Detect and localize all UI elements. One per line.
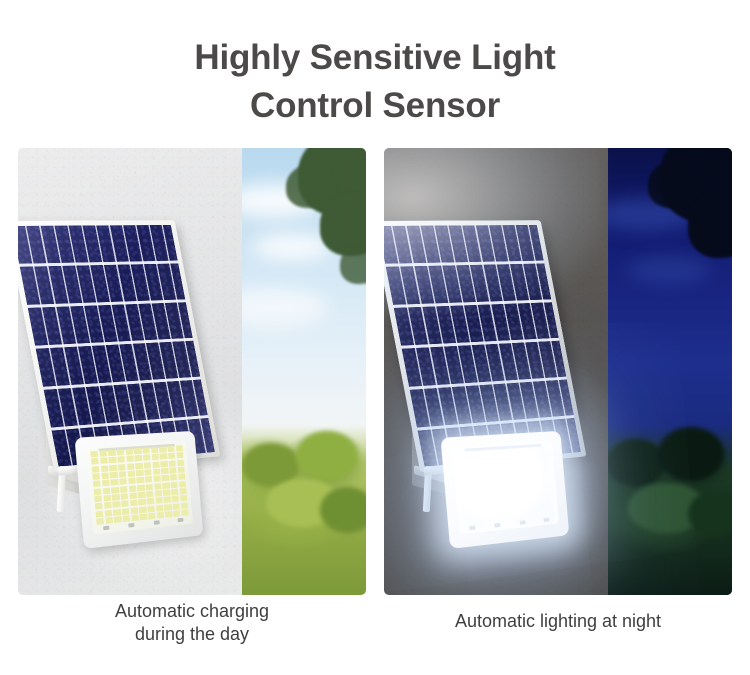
led-chip (112, 494, 120, 501)
led-chip (477, 479, 485, 486)
foliage-blob (320, 487, 366, 533)
led-chip (148, 505, 156, 512)
title-line-1: Highly Sensitive Light (0, 34, 750, 82)
led-chip-array (456, 445, 554, 525)
led-chip (488, 508, 496, 515)
led-chip (500, 448, 508, 454)
led-chip (170, 474, 177, 480)
led-chip (462, 511, 470, 518)
led-chip (160, 461, 167, 467)
led-chip (151, 447, 159, 453)
led-chip (506, 514, 514, 521)
led-chip (159, 446, 166, 452)
led-chip (180, 495, 187, 501)
led-chip (146, 491, 154, 498)
led-chip (521, 490, 529, 496)
led-chip (487, 493, 495, 500)
led-chip (512, 484, 520, 491)
led-chip (467, 472, 475, 479)
led-chip (489, 515, 497, 522)
led-chip (487, 501, 495, 508)
led-chip (108, 450, 116, 456)
led-chip (480, 516, 488, 523)
led-chip (526, 461, 533, 467)
title-line-2: Control Sensor (0, 82, 750, 130)
led-chip (518, 461, 526, 467)
led-chip (466, 458, 474, 465)
led-chip (123, 515, 131, 522)
led-chip (145, 476, 153, 482)
led-chip (130, 500, 138, 507)
led-floodlight (74, 431, 203, 549)
led-chip (131, 507, 139, 514)
led-chip (528, 482, 535, 488)
day-caption-line-1: Automatic charging (18, 600, 366, 623)
led-chip (497, 514, 505, 521)
led-chip (99, 450, 107, 457)
led-chip (546, 495, 553, 501)
led-chip (547, 502, 554, 508)
led-chip (497, 507, 505, 514)
led-chip (160, 453, 167, 459)
led-chip (162, 482, 169, 488)
led-chip (504, 492, 512, 499)
led-chip (120, 486, 128, 493)
led-chip (468, 480, 476, 487)
led-chip (171, 489, 178, 495)
led-chip (137, 477, 145, 484)
led-chip (525, 446, 532, 452)
led-chip (164, 504, 171, 511)
led-chip (119, 478, 127, 485)
led-chip (510, 462, 518, 468)
led-chip (537, 482, 544, 488)
led-chip (494, 478, 502, 485)
led-chip (102, 480, 110, 487)
led-chip (173, 510, 180, 517)
led-chip (514, 505, 522, 512)
led-chip (531, 511, 538, 518)
day-light-fixture (18, 148, 242, 595)
led-chip (113, 509, 121, 516)
led-chip (519, 469, 527, 475)
floodlight-lens (452, 440, 559, 534)
led-chip (545, 488, 552, 494)
led-chip (139, 506, 147, 513)
led-chip (155, 490, 163, 496)
led-chip (530, 497, 537, 504)
led-chip (504, 499, 512, 506)
led-chip (493, 463, 501, 469)
led-chip (491, 448, 499, 454)
led-chip (129, 492, 137, 499)
cloud (626, 256, 712, 284)
led-chip (111, 479, 119, 486)
led-chip (483, 449, 491, 455)
led-chip (138, 499, 146, 506)
led-chip (485, 471, 493, 478)
led-chip-array (90, 445, 188, 525)
led-chip (544, 474, 551, 480)
screw (469, 526, 475, 531)
led-chip (545, 481, 552, 487)
led-chip (134, 448, 142, 454)
led-chip (514, 513, 522, 520)
led-chip (495, 492, 503, 499)
led-chip (519, 476, 527, 482)
led-chip (152, 461, 160, 467)
led-chip (176, 452, 183, 458)
led-chip (113, 501, 121, 508)
led-chip (121, 501, 129, 508)
led-chip (476, 472, 484, 479)
comparison-photos (0, 148, 750, 595)
led-chip (542, 452, 549, 458)
led-chip (179, 481, 186, 487)
led-chip (144, 469, 152, 475)
led-chip (496, 500, 504, 507)
led-chip (461, 503, 469, 510)
day-photo (18, 148, 366, 595)
led-chip (143, 455, 151, 461)
floodlight-lens (86, 440, 193, 534)
led-chip (121, 493, 129, 500)
led-chip (138, 492, 146, 499)
led-chip (512, 491, 520, 498)
led-chip (477, 487, 485, 494)
screw (103, 526, 109, 531)
day-caption-line-2: during the day (18, 623, 366, 646)
night-vegetation (608, 425, 732, 595)
led-chip (127, 470, 135, 477)
page-title: Highly Sensitive Light Control Sensor (0, 34, 750, 130)
led-chip (475, 457, 483, 464)
led-chip (457, 458, 465, 465)
led-floodlight (440, 431, 569, 549)
screw (519, 520, 525, 525)
led-chip (148, 513, 156, 520)
led-chip (474, 450, 482, 456)
led-chip (523, 512, 530, 519)
led-chip (479, 501, 487, 508)
led-chip (181, 509, 188, 515)
led-chip (544, 467, 551, 473)
led-chip (131, 514, 139, 521)
led-chip (129, 485, 137, 492)
led-chip (469, 495, 477, 502)
led-chip (156, 505, 163, 512)
led-chip (125, 448, 133, 454)
led-chip (543, 459, 550, 465)
day-outdoor-scene (242, 148, 366, 595)
led-chip (517, 447, 525, 453)
led-chip (533, 446, 540, 452)
led-chip (90, 451, 98, 458)
led-chip (535, 460, 542, 466)
led-chip (521, 497, 529, 504)
led-chip (502, 470, 510, 476)
cloud (252, 234, 332, 260)
led-chip (128, 478, 136, 485)
led-chip (542, 445, 549, 451)
led-chip (101, 472, 109, 479)
led-chip (135, 463, 143, 469)
led-chip (155, 497, 163, 504)
led-chip (111, 487, 119, 494)
screw (153, 520, 159, 525)
screw (177, 518, 183, 523)
led-chip (127, 463, 135, 469)
led-chip (538, 503, 545, 510)
led-chip (135, 455, 143, 461)
led-chip (179, 488, 186, 494)
led-chip (109, 457, 117, 464)
led-chip (142, 447, 150, 453)
led-chip (104, 502, 112, 509)
led-chip (475, 464, 483, 471)
night-caption: Automatic lighting at night (384, 610, 732, 633)
led-chip (513, 498, 521, 505)
led-chip (153, 476, 161, 482)
led-chip (458, 473, 466, 480)
led-chip (102, 487, 110, 494)
led-chip (164, 497, 171, 504)
led-chip (536, 474, 543, 480)
night-caption-line-1: Automatic lighting at night (384, 610, 732, 633)
led-chip (100, 465, 108, 472)
led-chip (165, 511, 172, 518)
led-chip (96, 511, 104, 518)
led-chip (122, 508, 130, 515)
led-chip (466, 465, 474, 472)
led-chip (465, 450, 473, 457)
led-chip (95, 503, 103, 510)
led-chip (161, 468, 168, 474)
led-chip (140, 514, 148, 521)
led-chip (169, 460, 176, 466)
led-chip (492, 456, 500, 462)
led-chip (530, 504, 537, 511)
led-chip (509, 455, 517, 461)
led-chip (508, 447, 516, 453)
led-chip (100, 458, 108, 465)
led-chip (458, 466, 466, 473)
led-chip (485, 478, 493, 485)
led-chip (177, 459, 184, 465)
led-chip (460, 496, 468, 503)
day-caption: Automatic charging during the day (18, 600, 366, 646)
led-chip (92, 473, 100, 480)
led-chip (178, 474, 185, 480)
led-chip (510, 469, 518, 475)
led-chip (172, 503, 179, 510)
led-chip (104, 510, 112, 517)
led-chip (91, 458, 99, 465)
led-chip (94, 488, 102, 495)
foliage-blob (688, 491, 732, 537)
led-chip (501, 463, 509, 469)
led-chip (147, 498, 155, 505)
led-chip (459, 481, 467, 488)
screw (129, 523, 135, 528)
led-chip (162, 475, 169, 481)
led-chip (493, 470, 501, 477)
led-chip (484, 464, 492, 471)
led-chip (483, 456, 491, 463)
led-chip (486, 486, 494, 493)
foliage-blob (296, 431, 358, 481)
led-chip (178, 467, 185, 473)
led-chip (154, 483, 162, 489)
night-photo (384, 148, 732, 595)
led-chip (535, 467, 542, 473)
led-chip (109, 464, 117, 471)
day-vegetation (242, 425, 366, 595)
led-chip (151, 454, 159, 460)
led-chip (470, 502, 478, 509)
led-chip (527, 468, 534, 474)
led-chip (157, 512, 164, 519)
led-chip (137, 484, 145, 491)
led-chip (517, 454, 525, 460)
led-chip (547, 509, 554, 515)
led-chip (153, 469, 161, 475)
led-chip (105, 517, 113, 524)
led-chip (94, 496, 102, 503)
led-chip (167, 446, 174, 452)
led-chip (117, 456, 125, 463)
led-chip (478, 494, 486, 501)
led-chip (126, 456, 134, 462)
led-chip (168, 453, 175, 459)
led-chip (144, 462, 152, 468)
led-chip (117, 449, 125, 455)
night-outdoor-scene (608, 148, 732, 595)
product-feature-banner: Highly Sensitive Light Control Sensor (0, 0, 750, 675)
led-chip (495, 485, 503, 492)
led-chip (119, 471, 127, 478)
screw (543, 518, 549, 523)
led-chip (526, 453, 533, 459)
led-chip (503, 477, 511, 484)
led-chip (163, 489, 170, 495)
led-chip (118, 464, 126, 471)
led-chip (503, 484, 511, 491)
led-chip (460, 488, 468, 495)
led-chip (96, 518, 104, 525)
led-chip (528, 475, 535, 481)
led-chip (462, 518, 470, 525)
led-chip (479, 509, 487, 516)
led-chip (468, 487, 476, 494)
foliage-blob (658, 427, 724, 481)
led-chip (538, 496, 545, 502)
led-chip (176, 445, 183, 451)
led-chip (534, 453, 541, 459)
led-chip (172, 496, 179, 502)
led-chip (505, 506, 513, 513)
led-chip (169, 467, 176, 473)
led-chip (93, 481, 101, 488)
led-chip (114, 516, 122, 523)
led-chip (520, 483, 528, 489)
led-chip (537, 489, 544, 495)
foliage-blob (608, 439, 666, 487)
led-chip (103, 495, 111, 502)
led-chip (136, 470, 144, 476)
led-chip (110, 472, 118, 479)
led-chip (470, 510, 478, 517)
led-chip (181, 502, 188, 508)
led-chip (522, 505, 529, 512)
led-chip (511, 476, 519, 482)
night-light-fixture (384, 148, 608, 595)
screw (495, 523, 501, 528)
led-chip (171, 482, 178, 488)
led-chip (146, 484, 154, 491)
led-chip (539, 510, 546, 517)
led-chip (501, 455, 509, 461)
led-chip (456, 451, 464, 458)
led-chip (92, 466, 100, 473)
led-chip (471, 517, 479, 524)
led-chip (529, 489, 536, 495)
